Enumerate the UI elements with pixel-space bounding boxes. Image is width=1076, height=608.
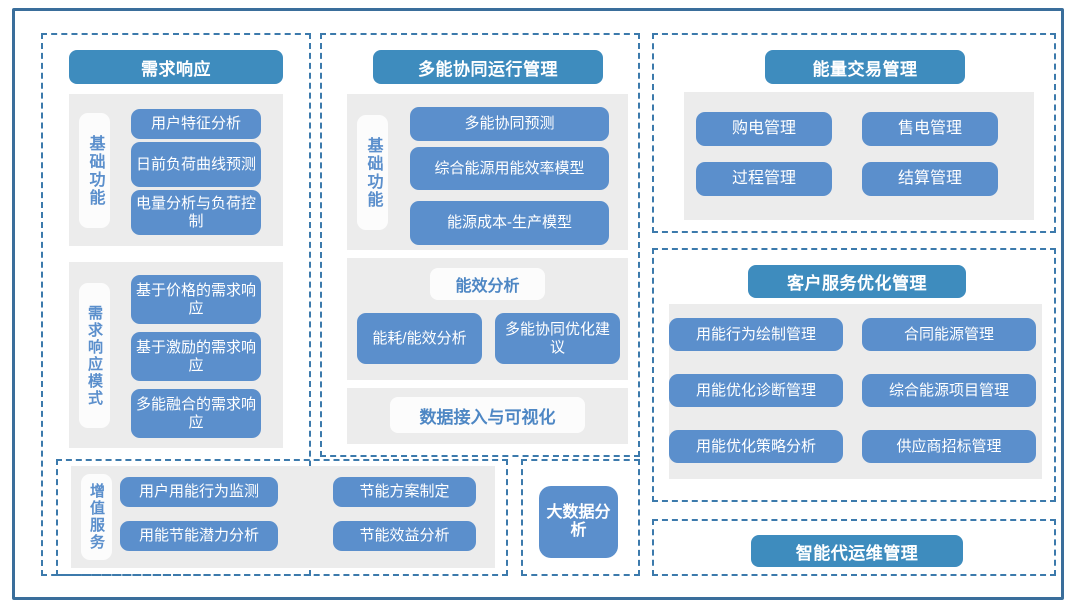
big-data-analysis-box[interactable]: 大数据分析: [539, 486, 618, 558]
energy-efficiency-title[interactable]: 能效分析: [430, 268, 545, 300]
item-dayahead-load-curve-forecast[interactable]: 日前负荷曲线预测: [131, 142, 261, 187]
multi-energy-title[interactable]: 多能协同运行管理: [373, 50, 603, 84]
smart-om-title[interactable]: 智能代运维管理: [751, 535, 963, 567]
demand-response-title[interactable]: 需求响应: [69, 50, 283, 84]
value-added-label: 增值服务: [81, 474, 112, 560]
item-user-feature-analysis[interactable]: 用户特征分析: [131, 109, 261, 139]
multi-energy-basic-label: 基础功能: [357, 115, 388, 230]
item-process-management[interactable]: 过程管理: [696, 162, 832, 196]
item-incentive-based-demand-response[interactable]: 基于激励的需求响应: [131, 332, 261, 381]
item-user-energy-behavior-monitoring[interactable]: 用户用能行为监测: [120, 477, 278, 507]
item-integrated-energy-efficiency-model[interactable]: 综合能源用能效率模型: [410, 147, 609, 190]
item-multi-energy-optimization-advice[interactable]: 多能协同优化建议: [495, 313, 620, 364]
item-energy-consumption-efficiency-analysis[interactable]: 能耗/能效分析: [357, 313, 482, 364]
data-access-title[interactable]: 数据接入与可视化: [390, 397, 585, 433]
item-price-based-demand-response[interactable]: 基于价格的需求响应: [131, 275, 261, 324]
item-contract-energy-management[interactable]: 合同能源管理: [862, 318, 1036, 351]
item-energy-saving-potential-analysis[interactable]: 用能节能潜力分析: [120, 521, 278, 551]
item-multienergy-fusion-demand-response[interactable]: 多能融合的需求响应: [131, 389, 261, 438]
item-settlement-management[interactable]: 结算管理: [862, 162, 998, 196]
item-energy-optimization-strategy-analysis[interactable]: 用能优化策略分析: [669, 430, 843, 463]
item-power-purchase-management[interactable]: 购电管理: [696, 112, 832, 146]
item-power-sales-management[interactable]: 售电管理: [862, 112, 998, 146]
item-integrated-energy-project-management[interactable]: 综合能源项目管理: [862, 374, 1036, 407]
diagram-canvas: 需求响应 基础功能 用户特征分析 日前负荷曲线预测 电量分析与负荷控制 需求响应…: [0, 0, 1076, 608]
item-multi-energy-forecast[interactable]: 多能协同预测: [410, 107, 609, 141]
item-energy-saving-benefit-analysis[interactable]: 节能效益分析: [333, 521, 476, 551]
energy-trading-title[interactable]: 能量交易管理: [765, 50, 965, 84]
item-power-analysis-load-control[interactable]: 电量分析与负荷控制: [131, 190, 261, 235]
item-energy-optimization-diagnosis-management[interactable]: 用能优化诊断管理: [669, 374, 843, 407]
demand-response-mode-label: 需求响应模式: [79, 283, 110, 428]
customer-service-title[interactable]: 客户服务优化管理: [748, 265, 966, 298]
item-energy-saving-plan-formulation[interactable]: 节能方案制定: [333, 477, 476, 507]
item-supplier-bidding-management[interactable]: 供应商招标管理: [862, 430, 1036, 463]
item-energy-cost-production-model[interactable]: 能源成本-生产模型: [410, 201, 609, 245]
item-energy-behavior-mapping-management[interactable]: 用能行为绘制管理: [669, 318, 843, 351]
demand-response-basic-label: 基础功能: [79, 113, 110, 228]
